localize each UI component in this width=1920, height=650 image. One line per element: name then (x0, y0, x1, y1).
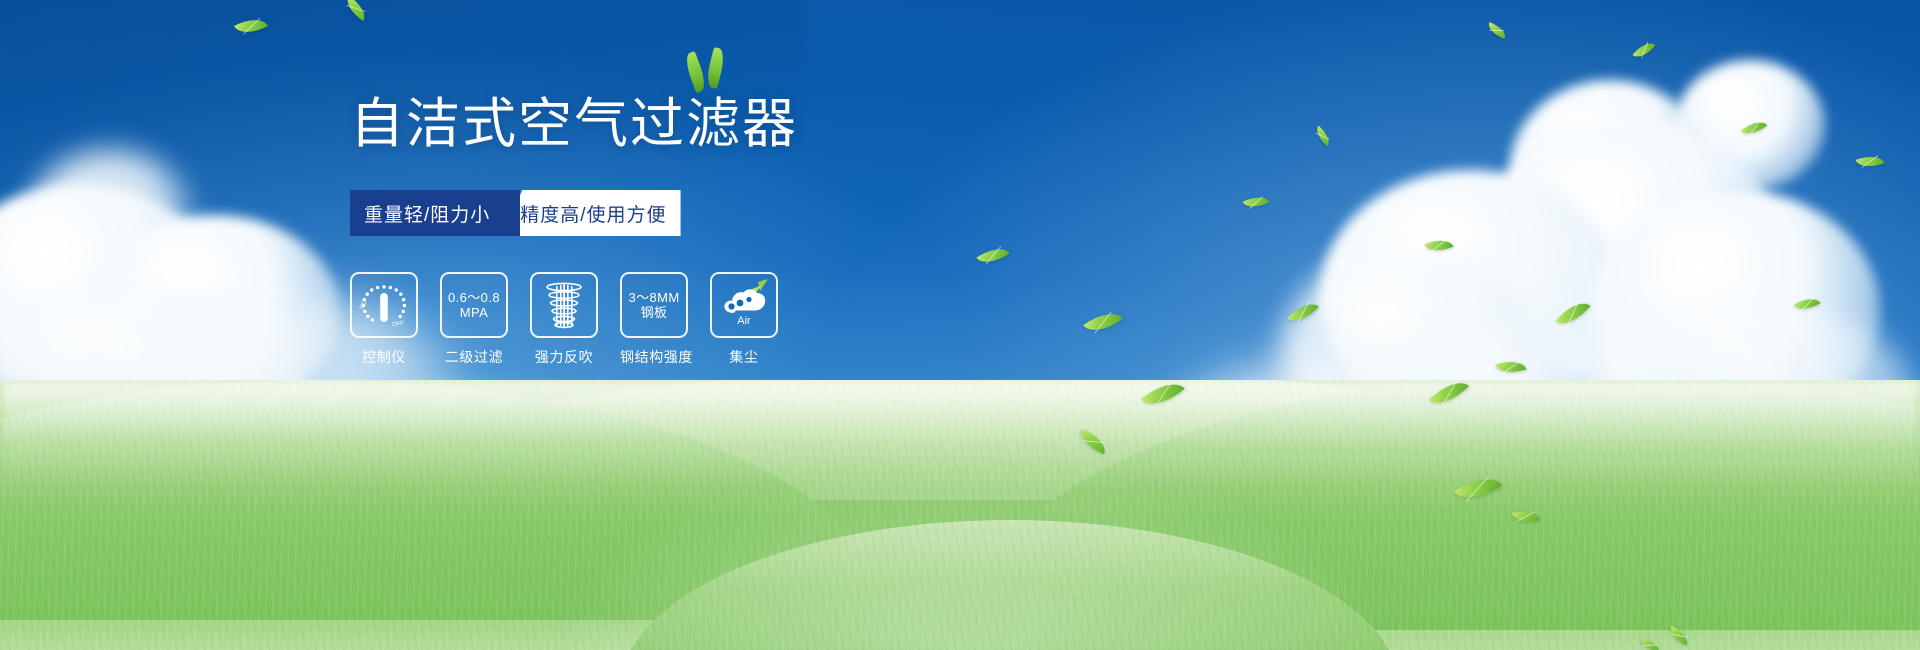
tag-white-label: 精度高/使用方便 (520, 200, 666, 227)
air-label: Air (737, 315, 751, 327)
feature-pressure-box: 0.6～0.8 MPA (440, 272, 508, 338)
page-title: 自洁式空气过滤器 (350, 90, 1070, 158)
steel-material-line: 钢板 (628, 305, 679, 320)
feature-dust-box: Air (710, 272, 778, 338)
tag-high-precision-easy-use[interactable]: 精度高/使用方便 (502, 190, 680, 236)
feature-controller[interactable]: NO OFF 控制仪 (350, 272, 418, 367)
title-row: 自洁式空气过滤器 (350, 90, 1070, 168)
tag-blue-label: 重量轻/阻力小 (364, 200, 490, 227)
steel-thickness-line: 3～8MM (628, 290, 679, 305)
feature-steel-structure-strength[interactable]: 3～8MM 钢板 钢结构强度 (620, 272, 688, 367)
feature-strong-back-blow-label: 强力反吹 (530, 347, 598, 367)
product-hero-banner: 自洁式空气过滤器 重量轻/阻力小 精度高/使用方便 (0, 0, 1920, 650)
sprout-blade-left (683, 51, 709, 93)
feature-controller-box: NO OFF (350, 272, 418, 338)
feature-tag-group: 重量轻/阻力小 精度高/使用方便 (350, 190, 673, 236)
feature-icon-row: NO OFF 控制仪 0.6～0.8 MPA 二级过滤 (350, 272, 1070, 367)
sprout-leaves-icon (683, 46, 735, 94)
pressure-text-icon: 0.6～0.8 MPA (448, 290, 500, 320)
sprout-blade-right (704, 47, 726, 89)
grass-top-fade (0, 380, 1920, 490)
feature-steel-structure-strength-label: 钢结构强度 (620, 347, 688, 367)
gauge-dial-icon: NO OFF (356, 279, 412, 331)
feature-two-stage-filtration[interactable]: 0.6～0.8 MPA 二级过滤 (440, 272, 508, 367)
feature-cartridge-box (530, 272, 598, 338)
cloud-air-icon: Air (716, 279, 772, 331)
feature-steel-box: 3～8MM 钢板 (620, 272, 688, 338)
gauge-no-label: NO (358, 299, 368, 311)
hero-content: 自洁式空气过滤器 重量轻/阻力小 精度高/使用方便 (350, 90, 1070, 367)
feature-two-stage-filtration-label: 二级过滤 (440, 347, 508, 367)
steel-plate-text-icon: 3～8MM 钢板 (628, 290, 679, 320)
tag-lightweight-low-resistance[interactable]: 重量轻/阻力小 (350, 190, 520, 236)
pressure-range-line: 0.6～0.8 (448, 290, 500, 305)
filter-cartridge-icon (540, 279, 588, 331)
feature-controller-label: 控制仪 (350, 347, 418, 367)
gauge-off-label: OFF (392, 321, 405, 329)
grass-field (0, 380, 1920, 650)
feature-dust-collection-label: 集尘 (710, 347, 778, 367)
pressure-unit-line: MPA (448, 305, 500, 320)
leaf-accent-icon (758, 279, 768, 291)
feature-strong-back-blow[interactable]: 强力反吹 (530, 272, 598, 367)
feature-dust-collection[interactable]: Air 集尘 (710, 272, 778, 367)
